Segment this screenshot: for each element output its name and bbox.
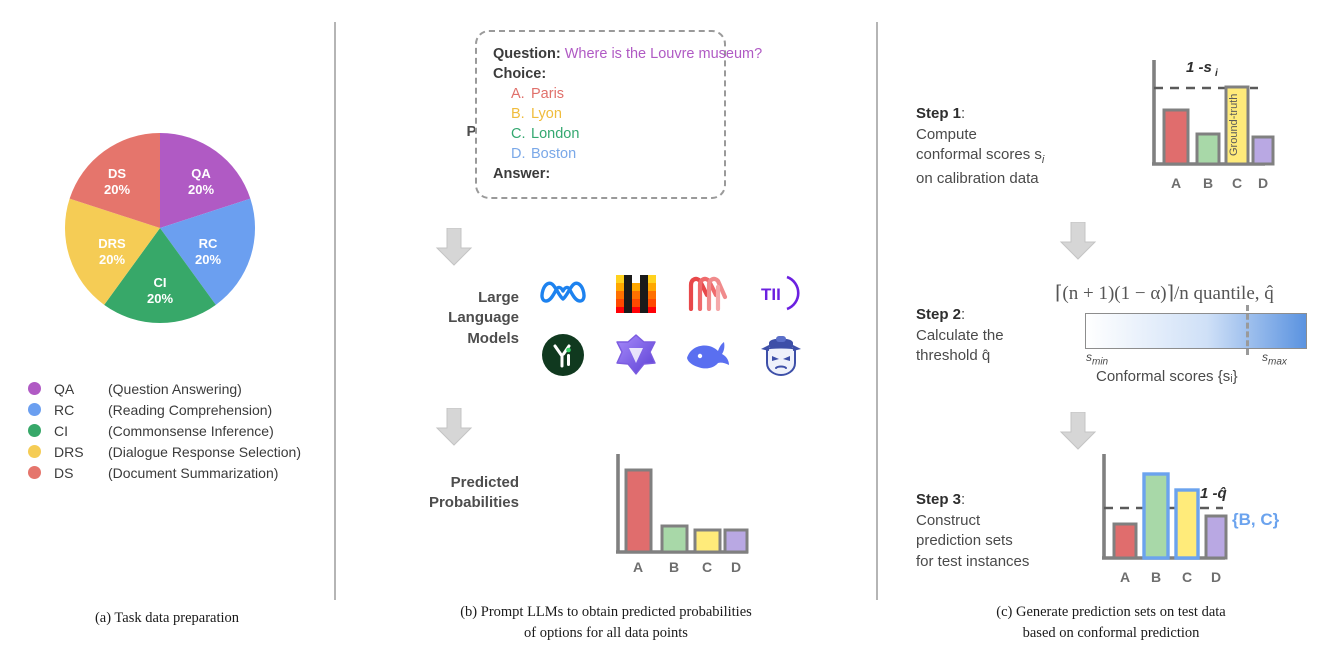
step1-text: Step 1: Compute conformal scores si on c… xyxy=(916,104,1091,189)
step1-line-1: Compute xyxy=(916,125,1091,146)
bar-d xyxy=(725,530,747,552)
prompt-choice-colon: : xyxy=(541,66,546,82)
step1-title: Step 1 xyxy=(916,105,961,122)
qwen-logo xyxy=(612,331,660,379)
prompt-option-b: B.Lyon xyxy=(493,104,708,124)
s-min-label: smin xyxy=(1086,350,1108,367)
step1-colon: : xyxy=(961,105,965,122)
option-text: Paris xyxy=(531,86,564,102)
step1-line-2-text: conformal scores s xyxy=(916,146,1042,163)
step2-text: Step 2: Calculate the threshold q̂ xyxy=(916,305,1091,367)
flow-arrow-down-4 xyxy=(1058,412,1098,450)
stage-label-line: Large xyxy=(374,288,519,308)
prompt-choice-key: Choice xyxy=(493,66,541,82)
prompt-input-box: Question: Where is the Louvre museum? Ch… xyxy=(475,30,726,199)
bar-d xyxy=(1253,137,1273,164)
legend-item-ds: DS (Document Summarization) xyxy=(28,462,301,483)
step2-line-1: Calculate the xyxy=(916,326,1091,347)
falcon-logo xyxy=(684,269,732,317)
bar-tick-c: C xyxy=(1182,569,1192,585)
s-max-label: smax xyxy=(1262,350,1287,367)
legend-abbr: QA xyxy=(54,381,108,397)
bar-tick-d: D xyxy=(1258,175,1268,191)
legend-abbr: CI xyxy=(54,423,108,439)
bar-tick-c: C xyxy=(1232,175,1242,191)
bar-tick-d: D xyxy=(731,559,741,575)
legend-dot-icon xyxy=(28,466,41,479)
pie-label-qa-name: QA xyxy=(191,166,211,181)
pie-label-ci-name: CI xyxy=(154,275,167,290)
bar-tick-b: B xyxy=(669,559,679,575)
legend-dot-icon xyxy=(28,403,41,416)
legend-item-qa: QA (Question Answering) xyxy=(28,378,301,399)
bar-tick-b: B xyxy=(1203,175,1213,191)
step3-title: Step 3 xyxy=(916,491,961,508)
yi-01ai-logo xyxy=(539,331,587,379)
svg-text:TII: TII xyxy=(761,285,781,304)
predicted-probabilities-bar-chart: A B C D xyxy=(600,452,750,582)
prompt-option-c: C.London xyxy=(493,124,708,144)
bar-tick-c: C xyxy=(702,559,712,575)
pie-svg: QA 20% RC 20% CI 20% DRS 20% DS 20% xyxy=(60,128,260,328)
threshold-label-1-minus-si: 1 -s xyxy=(1186,59,1212,76)
bar-tick-a: A xyxy=(1171,175,1181,191)
prompt-answer-colon: : xyxy=(545,166,550,182)
stage-label-line: Predicted xyxy=(354,473,519,493)
bar-tick-b: B xyxy=(1151,569,1161,585)
legend-dot-icon xyxy=(28,424,41,437)
step1-line-3: on calibration data xyxy=(916,169,1091,190)
option-letter: B. xyxy=(511,104,531,124)
legend-full: (Document Summarization) xyxy=(108,465,278,481)
bar-a xyxy=(1164,110,1188,164)
pie-label-drs-value: 20% xyxy=(99,252,125,267)
quantile-formula: ⌈(n + 1)(1 − α)⌉/n quantile, q̂ xyxy=(1055,282,1274,305)
bar-c xyxy=(695,530,720,552)
ground-truth-label: Ground-truth xyxy=(1228,94,1240,156)
option-letter: D. xyxy=(511,144,531,164)
legend-abbr: DS xyxy=(54,465,108,481)
step3-line-2: prediction sets xyxy=(916,531,1101,552)
legend-abbr: RC xyxy=(54,402,108,418)
prompt-question-key: Question xyxy=(493,46,556,62)
legend-abbr: DRS xyxy=(54,444,108,460)
stage-label-line: Language xyxy=(374,308,519,328)
option-letter: C. xyxy=(511,124,531,144)
step3-title-line: Step 3: xyxy=(916,490,1101,511)
meta-llama-logo xyxy=(539,269,587,317)
conformal-score-gradient-bar xyxy=(1085,313,1307,349)
quantile-threshold-marker xyxy=(1246,305,1249,355)
legend-item-ci: CI (Commonsense Inference) xyxy=(28,420,301,441)
bar-a xyxy=(626,470,651,552)
legend-dot-icon xyxy=(28,445,41,458)
caption-panel-a: (a) Task data preparation xyxy=(0,608,334,629)
prompt-question-colon: : xyxy=(556,46,561,62)
task-legend: QA (Question Answering) RC (Reading Comp… xyxy=(28,378,301,483)
bar-b-selected xyxy=(1144,474,1168,558)
bar-b xyxy=(1197,134,1219,164)
threshold-label-1-minus-qhat: 1 -q̂ xyxy=(1200,485,1227,502)
caption-line: based on conformal prediction xyxy=(896,623,1326,644)
step1-bar-chart: 1 -s i Ground-truth A B C D xyxy=(1140,52,1320,202)
pie-label-qa-value: 20% xyxy=(188,182,214,197)
step3-bar-chart: 1 -q̂ A B C D xyxy=(1090,448,1250,593)
step2-line-2: threshold q̂ xyxy=(916,346,1091,367)
llm-logo-grid: TII xyxy=(527,262,817,386)
task-distribution-pie-chart: QA 20% RC 20% CI 20% DRS 20% DS 20% xyxy=(60,128,260,328)
step3-line-3: for test instances xyxy=(916,552,1101,573)
internlm-logo xyxy=(757,331,805,379)
pie-label-rc-name: RC xyxy=(199,236,218,251)
flow-arrow-down-3 xyxy=(1058,222,1098,260)
step2-colon: : xyxy=(961,306,965,323)
bar-b xyxy=(662,526,687,552)
step2-title: Step 2 xyxy=(916,306,961,323)
bar-tick-a: A xyxy=(633,559,643,575)
pie-label-ds-value: 20% xyxy=(104,182,130,197)
legend-full: (Dialogue Response Selection) xyxy=(108,444,301,460)
stage-label-large-language-models: Large Language Models xyxy=(374,288,519,349)
step1-subscript: i xyxy=(1042,154,1044,166)
legend-full: (Question Answering) xyxy=(108,381,242,397)
threshold-label-subscript: i xyxy=(1215,68,1218,79)
option-text: Lyon xyxy=(531,106,562,122)
deepseek-logo xyxy=(684,331,732,379)
s-min-subscript: min xyxy=(1092,356,1108,367)
prompt-answer-line: Answer: xyxy=(493,164,708,184)
step3-text: Step 3: Construct prediction sets for te… xyxy=(916,490,1101,573)
bar-d xyxy=(1206,516,1226,558)
stage-label-line: Models xyxy=(374,329,519,349)
step3-line-1: Construct xyxy=(916,511,1101,532)
caption-line: (b) Prompt LLMs to obtain predicted prob… xyxy=(406,602,806,623)
bar-c-selected xyxy=(1176,490,1198,558)
legend-item-drs: DRS (Dialogue Response Selection) xyxy=(28,441,301,462)
step2-title-line: Step 2: xyxy=(916,305,1091,326)
mistral-logo xyxy=(612,269,660,317)
flow-arrow-down-2 xyxy=(434,408,474,446)
option-text: London xyxy=(531,126,579,142)
stage-label-line: Probabilities xyxy=(354,493,519,513)
pie-label-ci-value: 20% xyxy=(147,291,173,306)
conformal-scores-axis-label: Conformal scores {sᵢ} xyxy=(1096,368,1238,385)
prompt-question-line: Question: Where is the Louvre museum? xyxy=(493,44,708,64)
legend-dot-icon xyxy=(28,382,41,395)
option-text: Boston xyxy=(531,146,576,162)
caption-panel-b: (b) Prompt LLMs to obtain predicted prob… xyxy=(406,602,806,644)
pie-label-ds-name: DS xyxy=(108,166,126,181)
bar-tick-d: D xyxy=(1211,569,1221,585)
prompt-choice-line: Choice: xyxy=(493,64,708,84)
caption-line: of options for all data points xyxy=(406,623,806,644)
option-letter: A. xyxy=(511,84,531,104)
pie-label-rc-value: 20% xyxy=(195,252,221,267)
prompt-question-value: Where is the Louvre museum? xyxy=(565,46,762,62)
legend-full: (Commonsense Inference) xyxy=(108,423,274,439)
prompt-option-d: D.Boston xyxy=(493,144,708,164)
tii-logo: TII xyxy=(757,269,805,317)
panel-task-data-preparation: QA 20% RC 20% CI 20% DRS 20% DS 20% QA (… xyxy=(0,0,334,654)
prompt-option-a: A.Paris xyxy=(493,84,708,104)
caption-line: (c) Generate prediction sets on test dat… xyxy=(896,602,1326,623)
legend-full: (Reading Comprehension) xyxy=(108,402,272,418)
step1-line-2: conformal scores si xyxy=(916,145,1091,168)
stage-label-predicted-probabilities: Predicted Probabilities xyxy=(354,473,519,514)
pie-label-drs-name: DRS xyxy=(98,236,126,251)
step1-title-line: Step 1: xyxy=(916,104,1091,125)
bar-a xyxy=(1114,524,1136,558)
caption-panel-c: (c) Generate prediction sets on test dat… xyxy=(896,602,1326,644)
prompt-answer-key: Answer xyxy=(493,166,545,182)
prediction-set-result: {B, C} xyxy=(1232,510,1279,530)
s-max-subscript: max xyxy=(1268,356,1287,367)
step3-colon: : xyxy=(961,491,965,508)
legend-item-rc: RC (Reading Comprehension) xyxy=(28,399,301,420)
bar-tick-a: A xyxy=(1120,569,1130,585)
flow-arrow-down-1 xyxy=(434,228,474,266)
